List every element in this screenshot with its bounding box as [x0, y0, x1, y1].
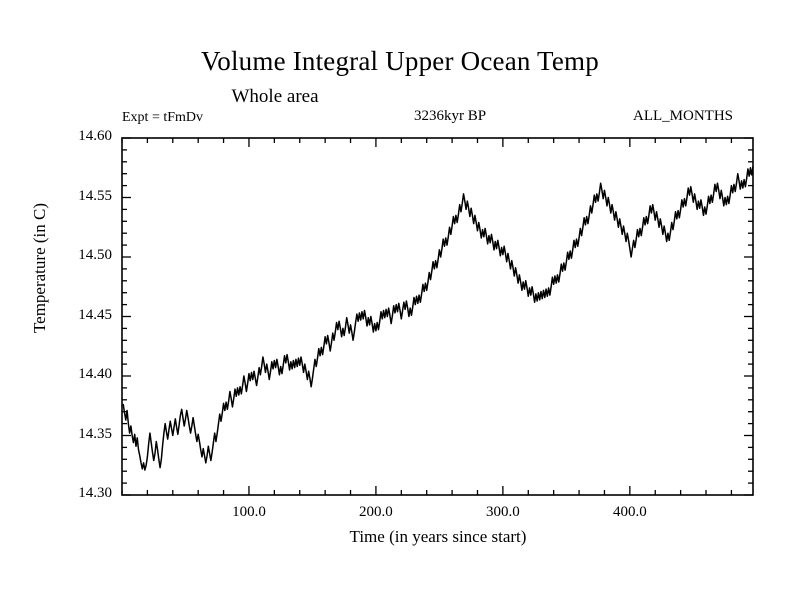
- chart-figure: Volume Integral Upper Ocean Temp Whole a…: [0, 0, 800, 600]
- plot-area: [0, 0, 800, 600]
- data-series-line: [123, 167, 753, 470]
